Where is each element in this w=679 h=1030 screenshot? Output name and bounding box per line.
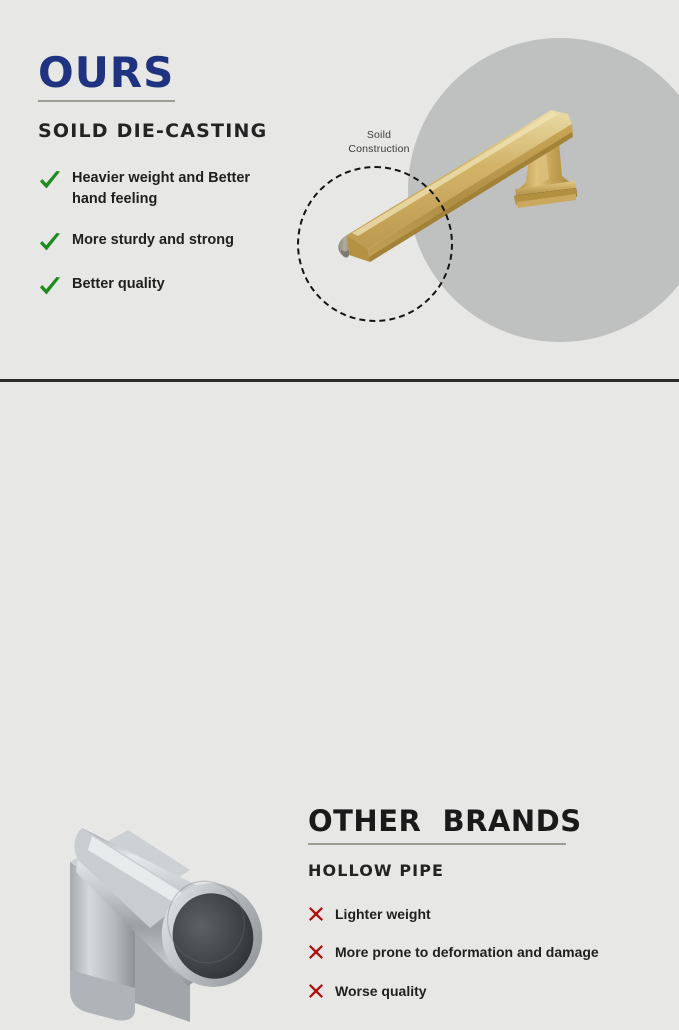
callout-line-2: Construction [324, 142, 434, 156]
list-item: More prone to deformation and damage [308, 942, 658, 962]
list-item: Better quality [38, 274, 300, 298]
solid-construction-highlight-circle [297, 166, 453, 322]
list-item-label: Lighter weight [335, 904, 431, 924]
check-icon [38, 274, 64, 298]
ours-panel: OURS SOILD DIE-CASTING Heavier weight an… [0, 0, 679, 380]
list-item-label: Worse quality [335, 981, 427, 1001]
other-bullet-list: Lighter weight More prone to deformation… [308, 904, 658, 1001]
list-item-label: More prone to deformation and damage [335, 942, 599, 962]
ours-subtitle: SOILD DIE-CASTING [38, 120, 300, 142]
other-title-underline [308, 843, 566, 845]
list-item-label: More sturdy and strong [72, 230, 234, 251]
ours-title-wrap: OURS [38, 52, 300, 102]
other-text-column: OTHER BRANDS HOLLOW PIPE Lighter weight [308, 807, 658, 1019]
ours-title-underline [38, 100, 175, 102]
list-item-label: Heavier weight and Better hand feeling [72, 168, 287, 210]
silver-hollow-pipe-handle-icon [40, 800, 280, 1030]
list-item: Lighter weight [308, 904, 658, 924]
check-icon [38, 230, 64, 254]
ours-text-column: OURS SOILD DIE-CASTING Heavier weight an… [38, 52, 300, 318]
ours-product-image: Soild Construction [286, 0, 679, 379]
solid-construction-callout: Soild Construction [324, 128, 434, 156]
cross-icon [308, 942, 326, 960]
product-comparison-infographic: OURS SOILD DIE-CASTING Heavier weight an… [0, 0, 679, 679]
page-title-other: OTHER BRANDS [308, 807, 582, 836]
list-item: Worse quality [308, 981, 658, 1001]
callout-line-1: Soild [324, 128, 434, 142]
other-subtitle: HOLLOW PIPE [308, 861, 658, 880]
list-item: Heavier weight and Better hand feeling [38, 168, 300, 210]
ours-bullet-list: Heavier weight and Better hand feeling M… [38, 168, 300, 298]
page-title-ours: OURS [38, 52, 174, 94]
list-item-label: Better quality [72, 274, 165, 295]
check-icon [38, 168, 64, 192]
other-brands-panel: OTHER BRANDS HOLLOW PIPE Lighter weight [0, 382, 679, 679]
cross-icon [308, 904, 326, 922]
cross-icon [308, 981, 326, 999]
other-title-wrap: OTHER BRANDS [308, 807, 658, 845]
list-item: More sturdy and strong [38, 230, 300, 254]
